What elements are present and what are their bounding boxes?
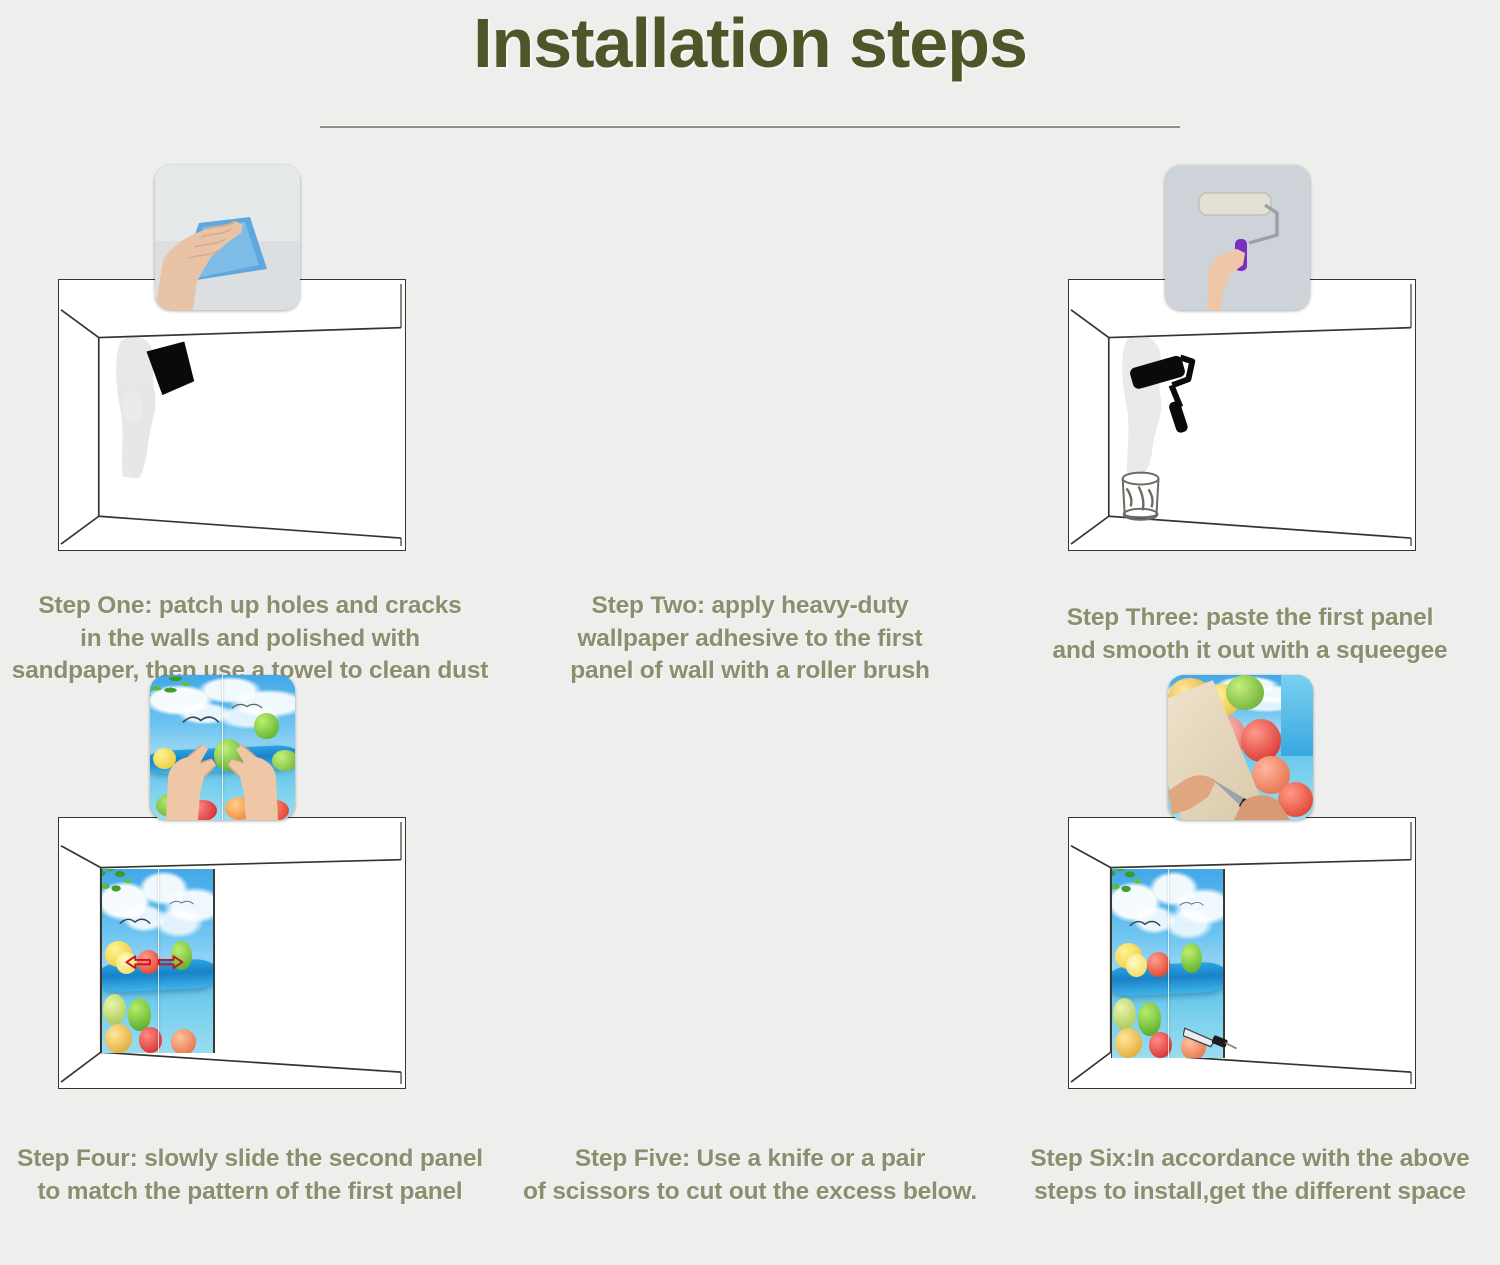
step-card-four: Step Four: slowly slide the second panel… xyxy=(0,695,500,1240)
caption-line: steps to install,get the different space xyxy=(992,1176,1500,1209)
caption-line: Step Five: Use a knife or a pair xyxy=(500,1143,1000,1176)
caption-step-three: Step Three: paste the first panel and sm… xyxy=(992,602,1500,667)
panel-left-edge xyxy=(101,869,103,1053)
grapes-icon xyxy=(103,994,126,1025)
caption-step-two: Step Two: apply heavy-duty wallpaper adh… xyxy=(500,590,1000,688)
seagull-icon xyxy=(169,895,194,910)
caption-line: Step Two: apply heavy-duty xyxy=(500,590,1000,623)
knife-and-hands-icon xyxy=(1168,675,1313,820)
room-diagram-step-one xyxy=(58,279,406,551)
apple-green-icon xyxy=(128,998,151,1031)
caption-line: Step Three: paste the first panel xyxy=(992,602,1500,635)
room-perspective-lines xyxy=(59,280,405,550)
mural-leaves xyxy=(101,869,142,917)
seagull-icon xyxy=(119,913,151,930)
panel-right-edge xyxy=(213,869,215,1053)
caption-step-five: Step Five: Use a knife or a pair of scis… xyxy=(500,1143,1000,1208)
hands-on-mural-scene xyxy=(150,675,295,820)
steps-grid: Step One: patch up holes and cracks in t… xyxy=(0,155,1500,1265)
step-card-two: Step Two: apply heavy-duty wallpaper adh… xyxy=(500,155,1000,695)
photo-cutting-with-knife xyxy=(1168,675,1313,820)
caption-line: Step One: patch up holes and cracks xyxy=(0,590,500,623)
caption-line: panel of wall with a roller brush xyxy=(500,655,1000,688)
caption-line: Step Six:In accordance with the above xyxy=(992,1143,1500,1176)
two-hands-icon xyxy=(150,675,295,820)
photo-hand-wiping-wall xyxy=(155,165,300,310)
installation-steps-infographic: Installation steps xyxy=(0,0,1500,1263)
hand-cloth-icon xyxy=(155,165,300,310)
caption-line: wallpaper adhesive to the first xyxy=(500,623,1000,656)
step-card-one: Step One: patch up holes and cracks in t… xyxy=(0,155,500,695)
step-card-five: Step Five: Use a knife or a pair of scis… xyxy=(500,695,1000,1240)
caption-line: in the walls and polished with xyxy=(0,623,500,656)
caption-line: to match the pattern of the first panel xyxy=(0,1176,508,1209)
red-match-arrows-icon xyxy=(125,950,184,974)
header-divider xyxy=(320,125,1180,128)
caption-step-one: Step One: patch up holes and cracks in t… xyxy=(0,590,500,688)
caption-step-four: Step Four: slowly slide the second panel… xyxy=(0,1143,508,1208)
knife-cutting-scene xyxy=(1168,675,1313,820)
room-diagram-step-four xyxy=(58,817,406,1089)
photo-roller-on-wall xyxy=(1165,165,1310,310)
caption-line: and smooth it out with a squeegee xyxy=(992,635,1500,668)
photo-hands-smoothing-panels xyxy=(150,675,295,820)
paint-roller-photo-icon xyxy=(1165,165,1310,310)
caption-line: of scissors to cut out the excess below. xyxy=(500,1176,1000,1209)
page-title: Installation steps xyxy=(0,8,1500,78)
caption-step-six: Step Six:In accordance with the above st… xyxy=(992,1143,1500,1208)
grapefruit-icon xyxy=(171,1029,196,1053)
caption-line: Step Four: slowly slide the second panel xyxy=(0,1143,508,1176)
knife-icon xyxy=(1183,1023,1238,1050)
